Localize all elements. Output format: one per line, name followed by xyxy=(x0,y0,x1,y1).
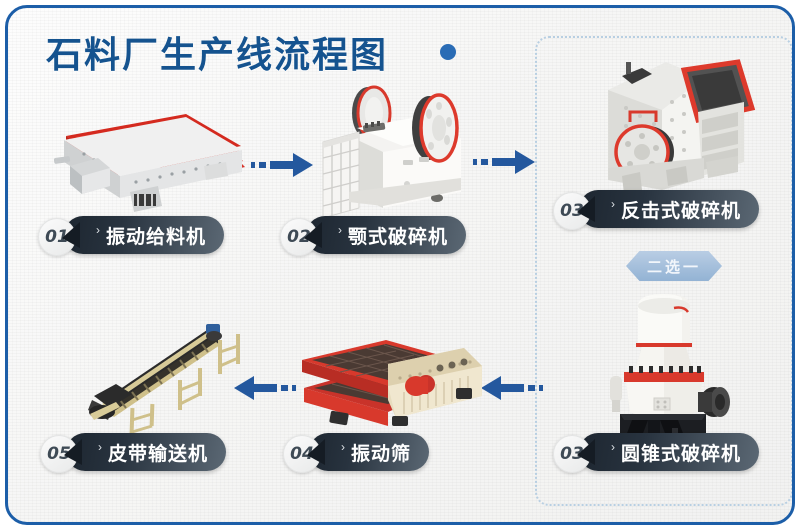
step-pill-01[interactable]: › 振动给料机 xyxy=(64,216,224,254)
step-pill-04[interactable]: › 振动筛 xyxy=(309,433,429,471)
step-pill-02[interactable]: › 颚式破碎机 xyxy=(306,216,466,254)
step-pill-05[interactable]: › 皮带输送机 xyxy=(66,433,226,471)
machine-vibrating-screen[interactable] xyxy=(296,326,494,438)
step-pill-03-cone[interactable]: › 圆锥式破碎机 xyxy=(579,433,759,471)
step-label-text: 颚式破碎机 xyxy=(348,222,448,249)
arrow-feeder-to-jaw xyxy=(251,151,313,179)
machine-cone-crusher[interactable] xyxy=(598,288,748,448)
chevron-right-icon: › xyxy=(98,440,102,454)
chevron-right-icon: › xyxy=(341,440,345,454)
machine-impact-crusher[interactable] xyxy=(566,50,786,205)
step-pill-03-impact[interactable]: › 反击式破碎机 xyxy=(579,190,759,228)
chevron-right-icon: › xyxy=(611,440,615,454)
page-title: 石料厂生产线流程图 xyxy=(46,26,388,78)
chevron-right-icon: › xyxy=(96,223,100,237)
title-bullet-dot xyxy=(440,44,456,60)
diagram-frame: 石料厂生产线流程图 xyxy=(5,5,795,525)
chevron-right-icon: › xyxy=(611,197,615,211)
alternative-badge: 二选一 xyxy=(626,251,722,281)
step-label-text: 振动筛 xyxy=(351,439,411,466)
machine-vibrating-feeder[interactable] xyxy=(36,106,251,216)
step-label-text: 反击式破碎机 xyxy=(621,196,741,223)
machine-jaw-crusher[interactable] xyxy=(311,80,491,220)
step-label-text: 圆锥式破碎机 xyxy=(621,439,741,466)
step-label-text: 振动给料机 xyxy=(106,222,206,249)
step-label-text: 皮带输送机 xyxy=(108,439,208,466)
arrow-jaw-to-impact xyxy=(473,148,535,176)
chevron-right-icon: › xyxy=(338,223,342,237)
machine-belt-conveyor[interactable] xyxy=(86,308,281,438)
flowchart-canvas: 石料厂生产线流程图 xyxy=(0,0,800,530)
